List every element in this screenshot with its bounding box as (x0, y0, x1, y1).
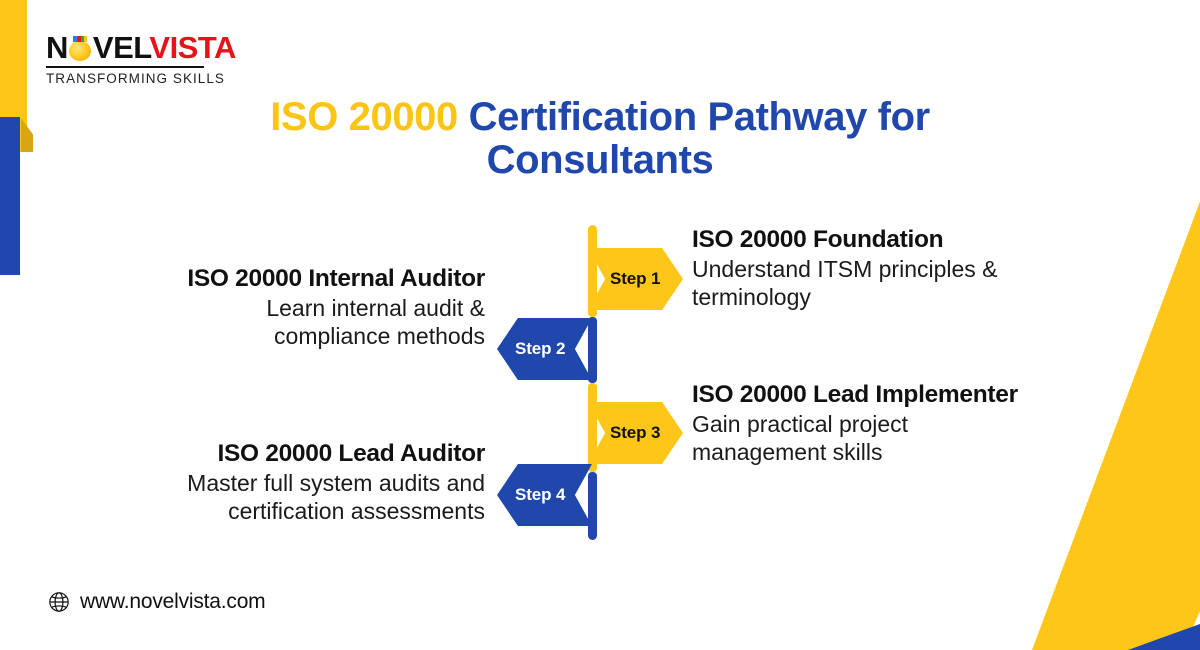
logo-text-n: N (46, 30, 68, 65)
decor-left-yellow-fold (21, 118, 33, 152)
globe-icon (48, 591, 70, 613)
decor-left-blue-band (0, 117, 20, 275)
step-4-heading: ISO 20000 Lead Auditor (150, 440, 485, 467)
page-title: ISO 20000 Certification Pathway for Cons… (200, 96, 1000, 182)
footer[interactable]: www.novelvista.com (48, 590, 265, 614)
step-chip-3-label: Step 3 (610, 423, 660, 443)
timeline-spine-cap-bottom (588, 531, 597, 540)
decor-right-yellow-wedge (990, 0, 1200, 650)
step-4-description: Master full system audits and certificat… (150, 470, 485, 525)
step-3-description: Gain practical project management skills (692, 411, 1022, 466)
step-2-heading: ISO 20000 Internal Auditor (180, 265, 485, 292)
infographic-canvas: NVELVISTA TRANSFORMING SKILLS ISO 20000 … (0, 0, 1200, 650)
page-title-highlight: ISO 20000 (270, 95, 458, 139)
timeline-spine-segment-4 (588, 472, 597, 538)
lightbulb-icon (68, 36, 93, 61)
step-block-1: ISO 20000 Foundation Understand ITSM pri… (692, 226, 1022, 312)
logo-text-vel: VEL (93, 30, 150, 65)
step-chip-4[interactable]: Step 4 (497, 464, 592, 526)
logo-text-vista: VISTA (149, 30, 236, 65)
brand-logo[interactable]: NVELVISTA TRANSFORMING SKILLS (46, 32, 276, 86)
logo-divider (46, 66, 204, 68)
step-1-heading: ISO 20000 Foundation (692, 226, 1022, 253)
step-chip-2[interactable]: Step 2 (497, 318, 592, 380)
website-url[interactable]: www.novelvista.com (80, 590, 265, 614)
step-block-4: ISO 20000 Lead Auditor Master full syste… (150, 440, 485, 526)
logo-wordmark: NVELVISTA (46, 32, 276, 63)
page-title-rest: Certification Pathway for Consultants (469, 95, 930, 182)
logo-tagline: TRANSFORMING SKILLS (46, 71, 276, 86)
step-block-2: ISO 20000 Internal Auditor Learn interna… (180, 265, 485, 351)
step-chip-1-label: Step 1 (610, 269, 660, 289)
step-block-3: ISO 20000 Lead Implementer Gain practica… (692, 381, 1022, 467)
step-3-heading: ISO 20000 Lead Implementer (692, 381, 1022, 408)
step-chip-4-label: Step 4 (515, 485, 565, 505)
step-chip-3[interactable]: Step 3 (588, 402, 683, 464)
step-chip-1[interactable]: Step 1 (588, 248, 683, 310)
step-chip-2-label: Step 2 (515, 339, 565, 359)
step-1-description: Understand ITSM principles & terminology (692, 256, 1022, 311)
timeline-spine-segment-2 (588, 317, 597, 383)
step-2-description: Learn internal audit & compliance method… (180, 295, 485, 350)
